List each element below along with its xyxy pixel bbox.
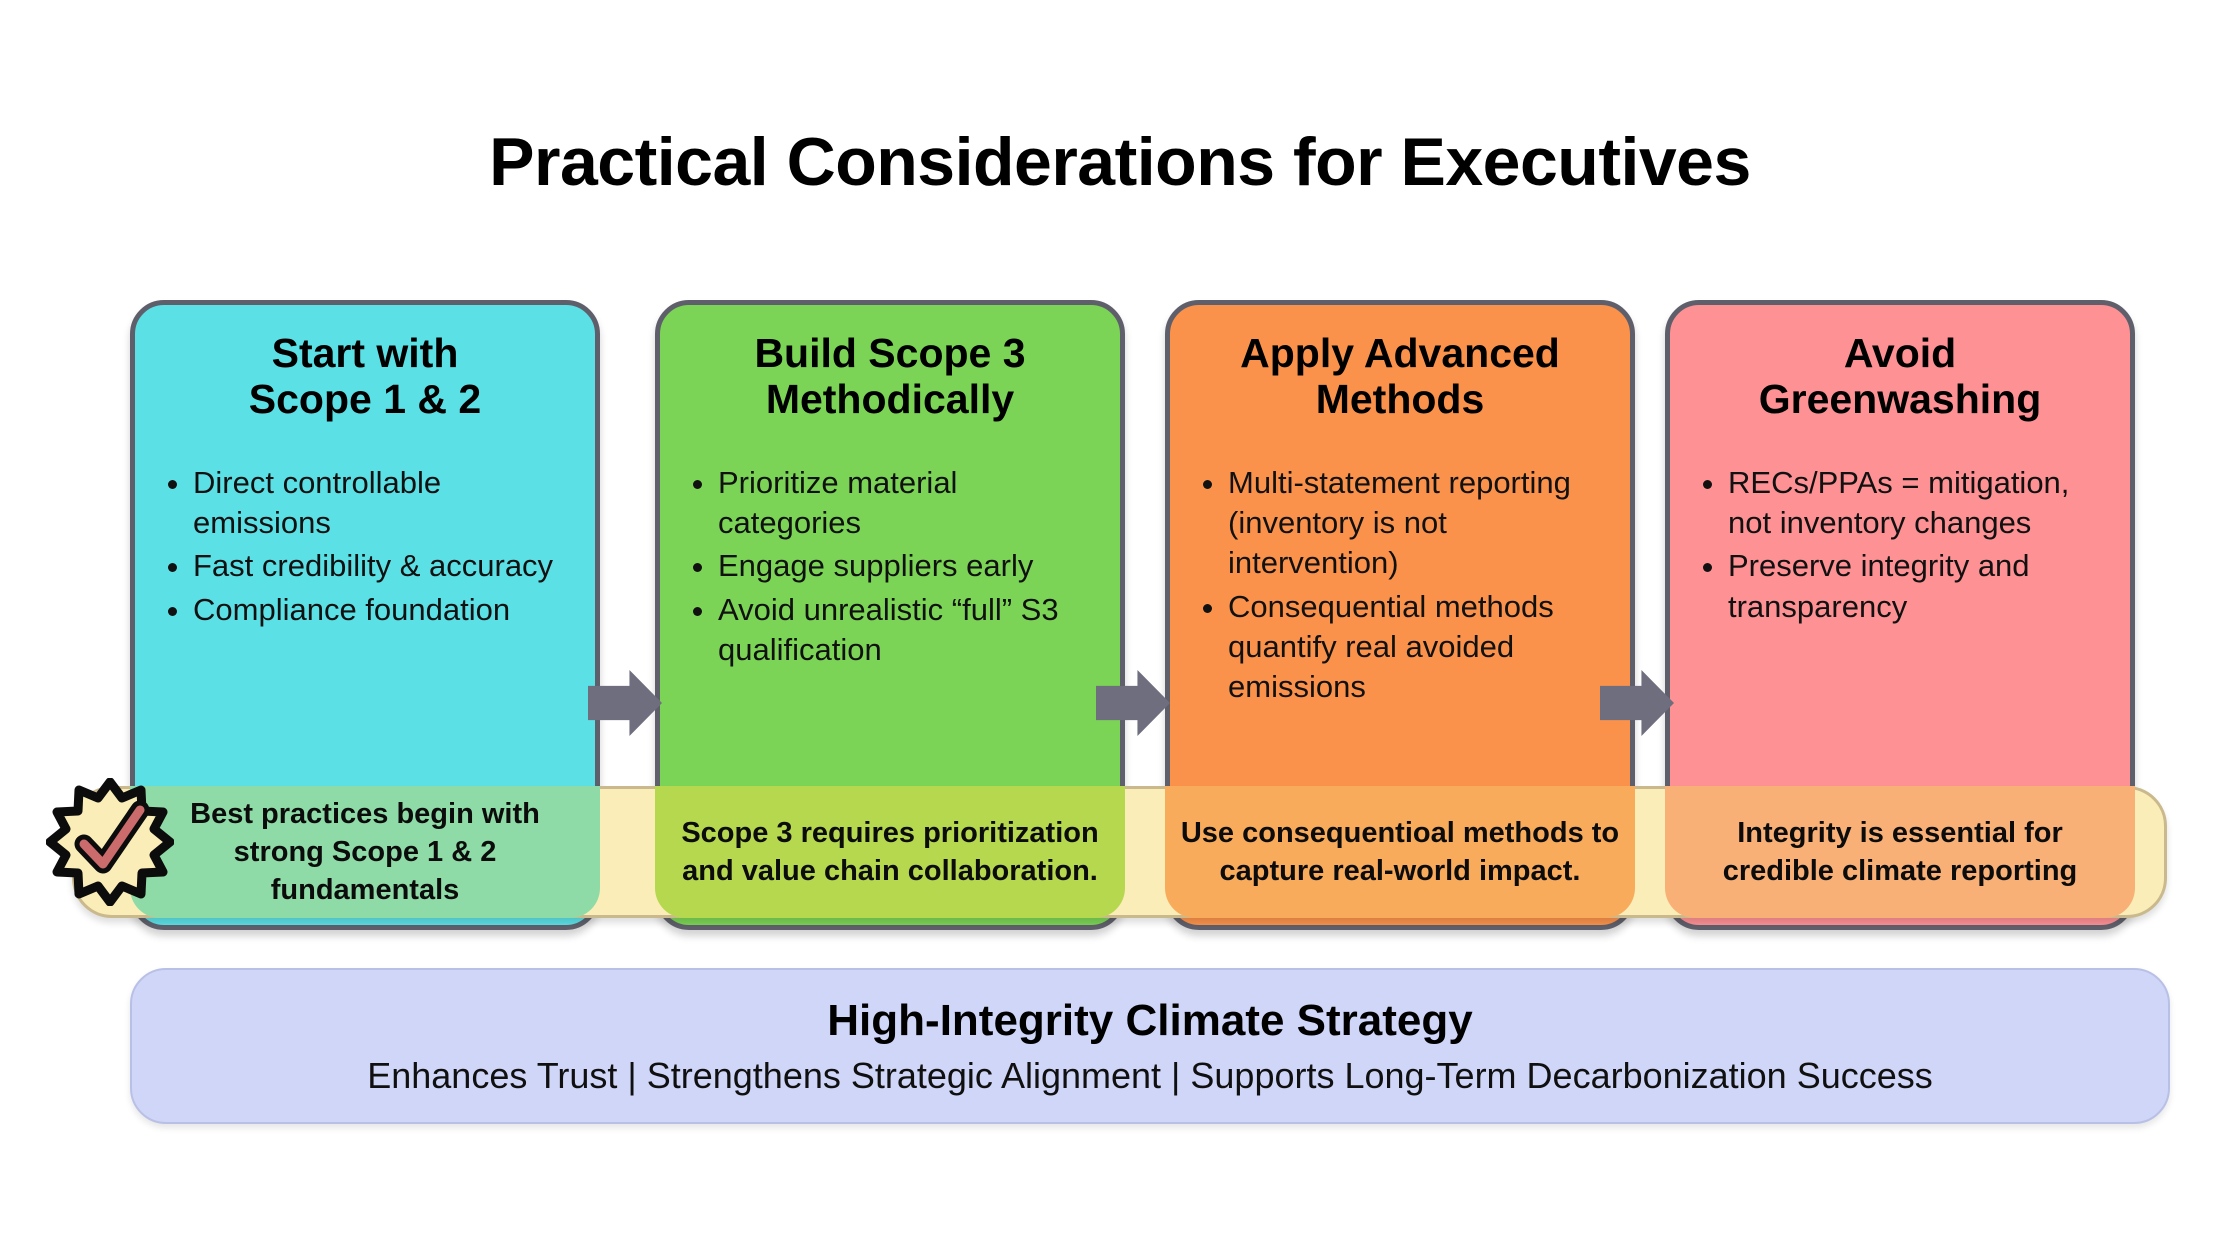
list-item: Fast credibility & accuracy (193, 546, 577, 586)
banner-cells: Best practices begin with strong Scope 1… (0, 786, 2240, 918)
stage-card-4-title: Avoid Greenwashing (1692, 331, 2108, 423)
list-item: Multi-statement reporting (inventory is … (1228, 463, 1612, 584)
check-badge-icon (46, 778, 174, 906)
stage-banner-2-text: Scope 3 requires prioritization and valu… (655, 814, 1125, 891)
stage-card-2-title-line1: Build Scope 3 (682, 331, 1098, 377)
list-item: Direct controllable emissions (193, 463, 577, 544)
stage-banner-4-text: Integrity is essential for credible clim… (1665, 814, 2135, 891)
stage-banner-4: Integrity is essential for credible clim… (1665, 786, 2135, 918)
stage-banner-3: Use consequentioal methods to capture re… (1165, 786, 1635, 918)
stage-card-3-title: Apply Advanced Methods (1192, 331, 1608, 423)
stage-banner-1-text: Best practices begin with strong Scope 1… (130, 795, 600, 910)
stage-card-3-title-line2: Methods (1192, 377, 1608, 423)
stage-banner-2: Scope 3 requires prioritization and valu… (655, 786, 1125, 918)
stage-card-2-title: Build Scope 3 Methodically (682, 331, 1098, 423)
stage-card-2-bullets: Prioritize material categories Engage su… (682, 463, 1102, 670)
list-item: Avoid unrealistic “full” S3 qualificatio… (718, 590, 1102, 671)
summary-bar: High-Integrity Climate Strategy Enhances… (130, 968, 2170, 1124)
stage-banner-3-text: Use consequentioal methods to capture re… (1165, 814, 1635, 891)
stage-card-2-title-line2: Methodically (682, 377, 1098, 423)
stage-card-3-bullets: Multi-statement reporting (inventory is … (1192, 463, 1612, 708)
page-title: Practical Considerations for Executives (0, 128, 2240, 196)
infographic-canvas: Practical Considerations for Executives … (0, 0, 2240, 1260)
summary-title: High-Integrity Climate Strategy (827, 996, 1472, 1047)
stage-banner-1: Best practices begin with strong Scope 1… (130, 786, 600, 918)
list-item: Preserve integrity and transparency (1728, 546, 2112, 627)
stage-card-4-bullets: RECs/PPAs = mitigation, not inventory ch… (1692, 463, 2112, 627)
summary-subtitle: Enhances Trust | Strengthens Strategic A… (367, 1055, 1933, 1096)
list-item: Engage suppliers early (718, 546, 1102, 586)
list-item: Consequential methods quantify real avoi… (1228, 587, 1612, 708)
stage-card-4-title-line2: Greenwashing (1692, 377, 2108, 423)
stage-card-1-title: Start with Scope 1 & 2 (157, 331, 573, 423)
stage-card-1-title-line2: Scope 1 & 2 (157, 377, 573, 423)
list-item: RECs/PPAs = mitigation, not inventory ch… (1728, 463, 2112, 544)
list-item: Compliance foundation (193, 590, 577, 630)
stage-card-3-title-line1: Apply Advanced (1192, 331, 1608, 377)
stage-card-4-title-line1: Avoid (1692, 331, 2108, 377)
list-item: Prioritize material categories (718, 463, 1102, 544)
stage-card-1-title-line1: Start with (157, 331, 573, 377)
stage-card-1-bullets: Direct controllable emissions Fast credi… (157, 463, 577, 630)
